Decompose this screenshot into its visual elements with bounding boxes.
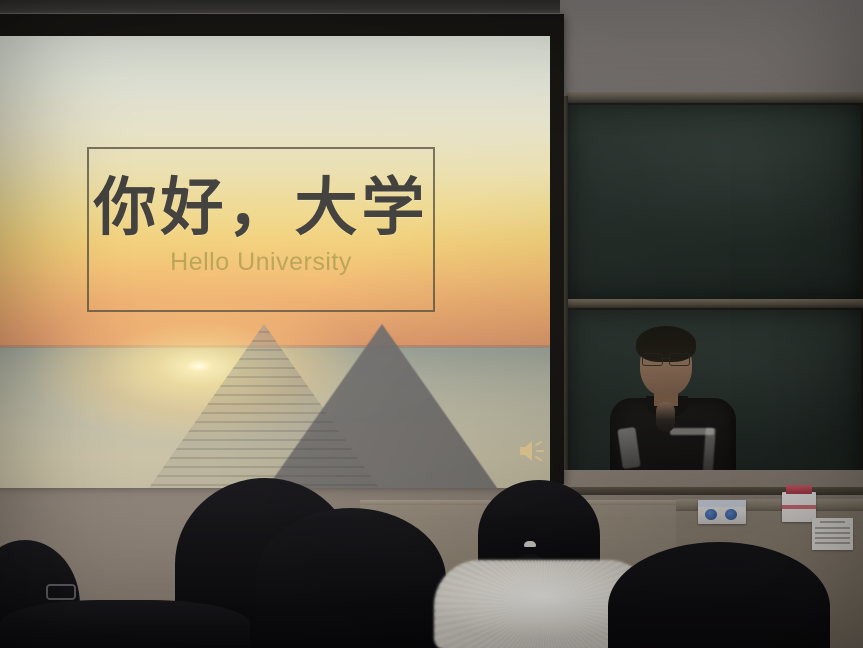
slide-subtitle: Hello University (170, 248, 352, 277)
ceiling-soffit (0, 0, 560, 13)
projection-screen-frame: 你好，大学 Hello University (0, 14, 564, 484)
student-left-center (256, 508, 446, 648)
box-blue-cap (698, 500, 746, 507)
notice-line (815, 532, 850, 534)
slide-sun (186, 360, 212, 372)
chalkboard-upper (566, 103, 863, 301)
student-bottom-left (0, 600, 250, 648)
eyeglasses-icon (642, 353, 690, 364)
student-eyeglasses-icon (46, 584, 76, 600)
eyeglasses-bridge (661, 358, 671, 359)
notice-paper (812, 518, 853, 550)
notice-line (820, 521, 845, 523)
slide-title: 你好，大学 (94, 176, 429, 240)
slide-title-box: 你好，大学 Hello University (87, 147, 435, 312)
ledge-rail (556, 487, 863, 495)
notice-line (815, 537, 850, 539)
product-box-red (782, 492, 816, 522)
classroom-presentation-photo: 你好，大学 Hello University (0, 0, 863, 648)
box-blue-logo-left (705, 509, 717, 520)
microphone-in-hand (656, 402, 675, 432)
box-red-band (782, 505, 816, 509)
box-blue-logo-right (725, 509, 737, 520)
product-box-blue (698, 500, 746, 524)
notice-line (815, 527, 850, 529)
projection-screen: 你好，大学 Hello University (0, 36, 550, 488)
box-red-lid (786, 485, 812, 494)
chalkboard-top-rail (566, 92, 863, 103)
notice-line (815, 542, 850, 544)
speaker-icon (517, 437, 547, 465)
hair-clip (524, 541, 536, 547)
